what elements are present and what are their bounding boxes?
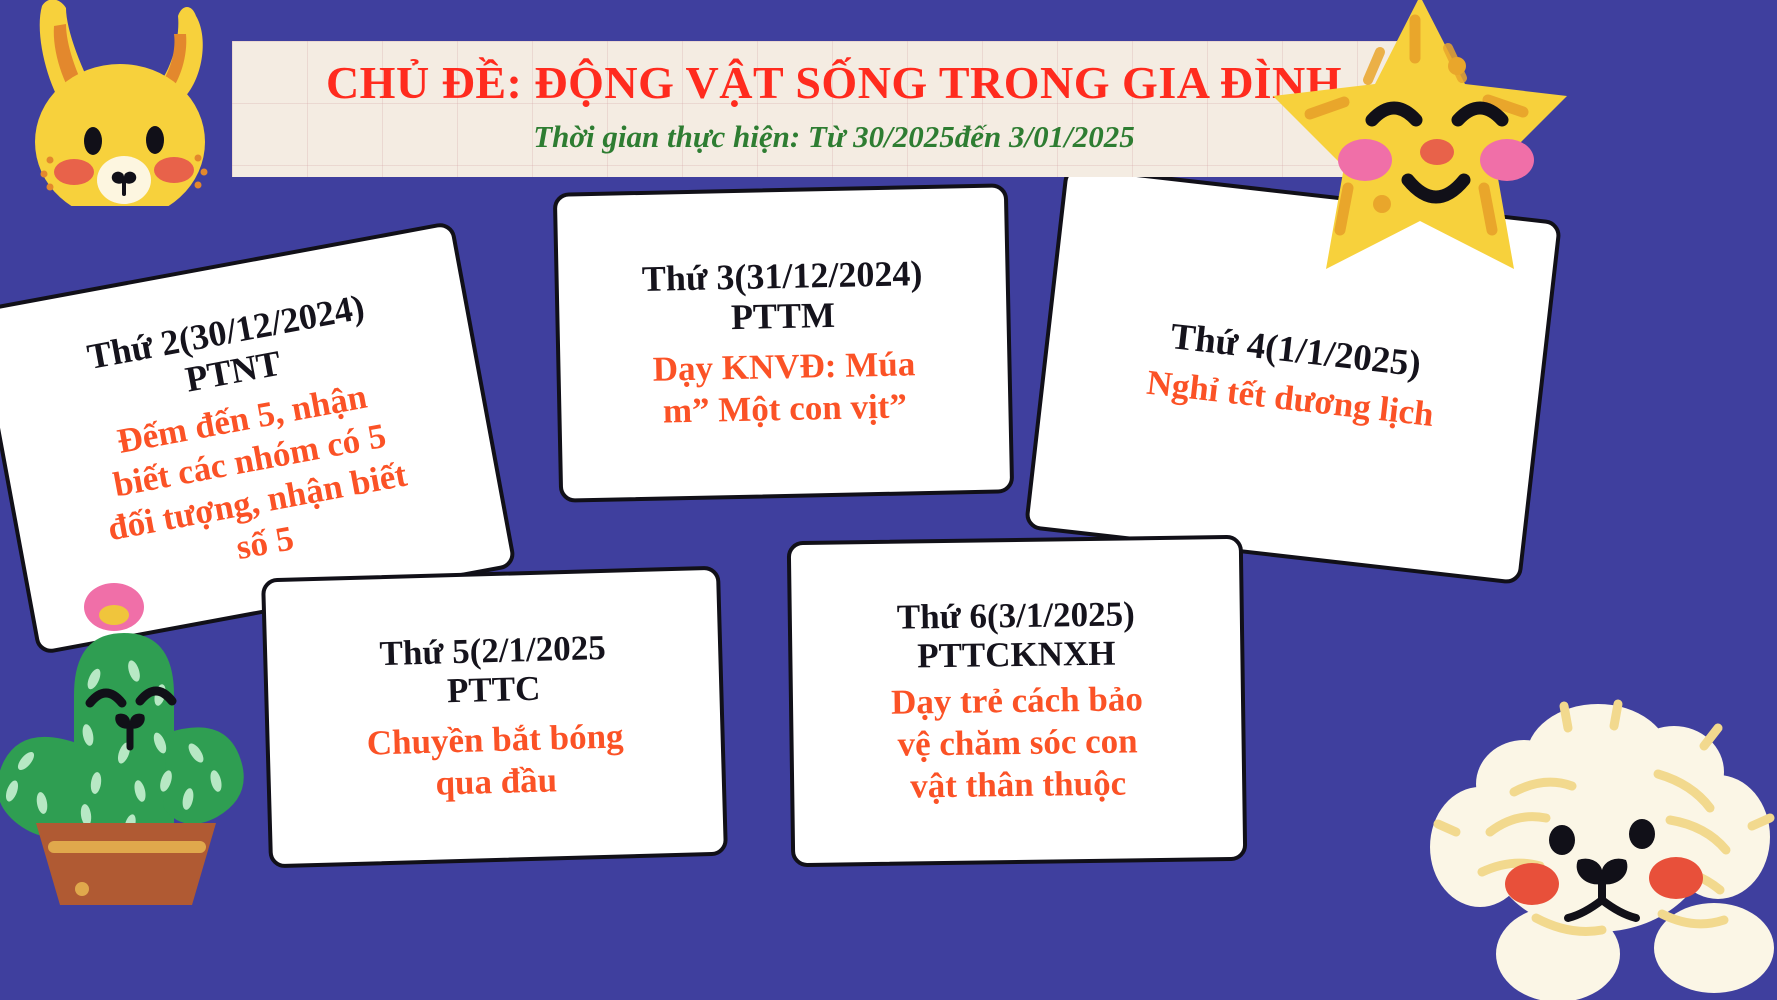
day-card-tuesday[interactable]: Thứ 3(31/12/2024) PTTM Dạy KNVĐ: Múa m” …: [553, 183, 1014, 502]
day-card-header: Thứ 5(2/1/2025 PTTC: [379, 628, 607, 713]
day-card-wednesday[interactable]: Thứ 4(1/1/2025) Nghỉ tết dương lịch: [1024, 165, 1562, 585]
title-banner: CHỦ ĐỀ: ĐỘNG VẬT SỐNG TRONG GIA ĐÌNH Thờ…: [232, 41, 1436, 177]
day-card-body: Dạy trẻ cách bảo vệ chăm sóc con vật thâ…: [891, 678, 1145, 808]
page-title: CHỦ ĐỀ: ĐỘNG VẬT SỐNG TRONG GIA ĐÌNH: [232, 59, 1436, 107]
day-card-header: Thứ 6(3/1/2025) PTTCKNXH: [897, 594, 1136, 676]
day-card-friday[interactable]: Thứ 6(3/1/2025) PTTCKNXH Dạy trẻ cách bả…: [787, 535, 1248, 867]
day-card-body: Dạy KNVĐ: Múa m” Một con vịt”: [652, 344, 916, 433]
dog-icon: [1418, 672, 1777, 1000]
day-card-thursday[interactable]: Thứ 5(2/1/2025 PTTC Chuyền bắt bóng qua …: [261, 566, 728, 869]
day-card-body: Chuyền bắt bóng qua đầu: [366, 716, 625, 807]
page-subtitle: Thời gian thực hiện: Từ 30/2025đến 3/01/…: [232, 120, 1436, 154]
poster-canvas: CHỦ ĐỀ: ĐỘNG VẬT SỐNG TRONG GIA ĐÌNH Thờ…: [0, 0, 1777, 1000]
rabbit-icon: [8, 0, 228, 206]
day-card-header: Thứ 3(31/12/2024) PTTM: [641, 253, 923, 339]
